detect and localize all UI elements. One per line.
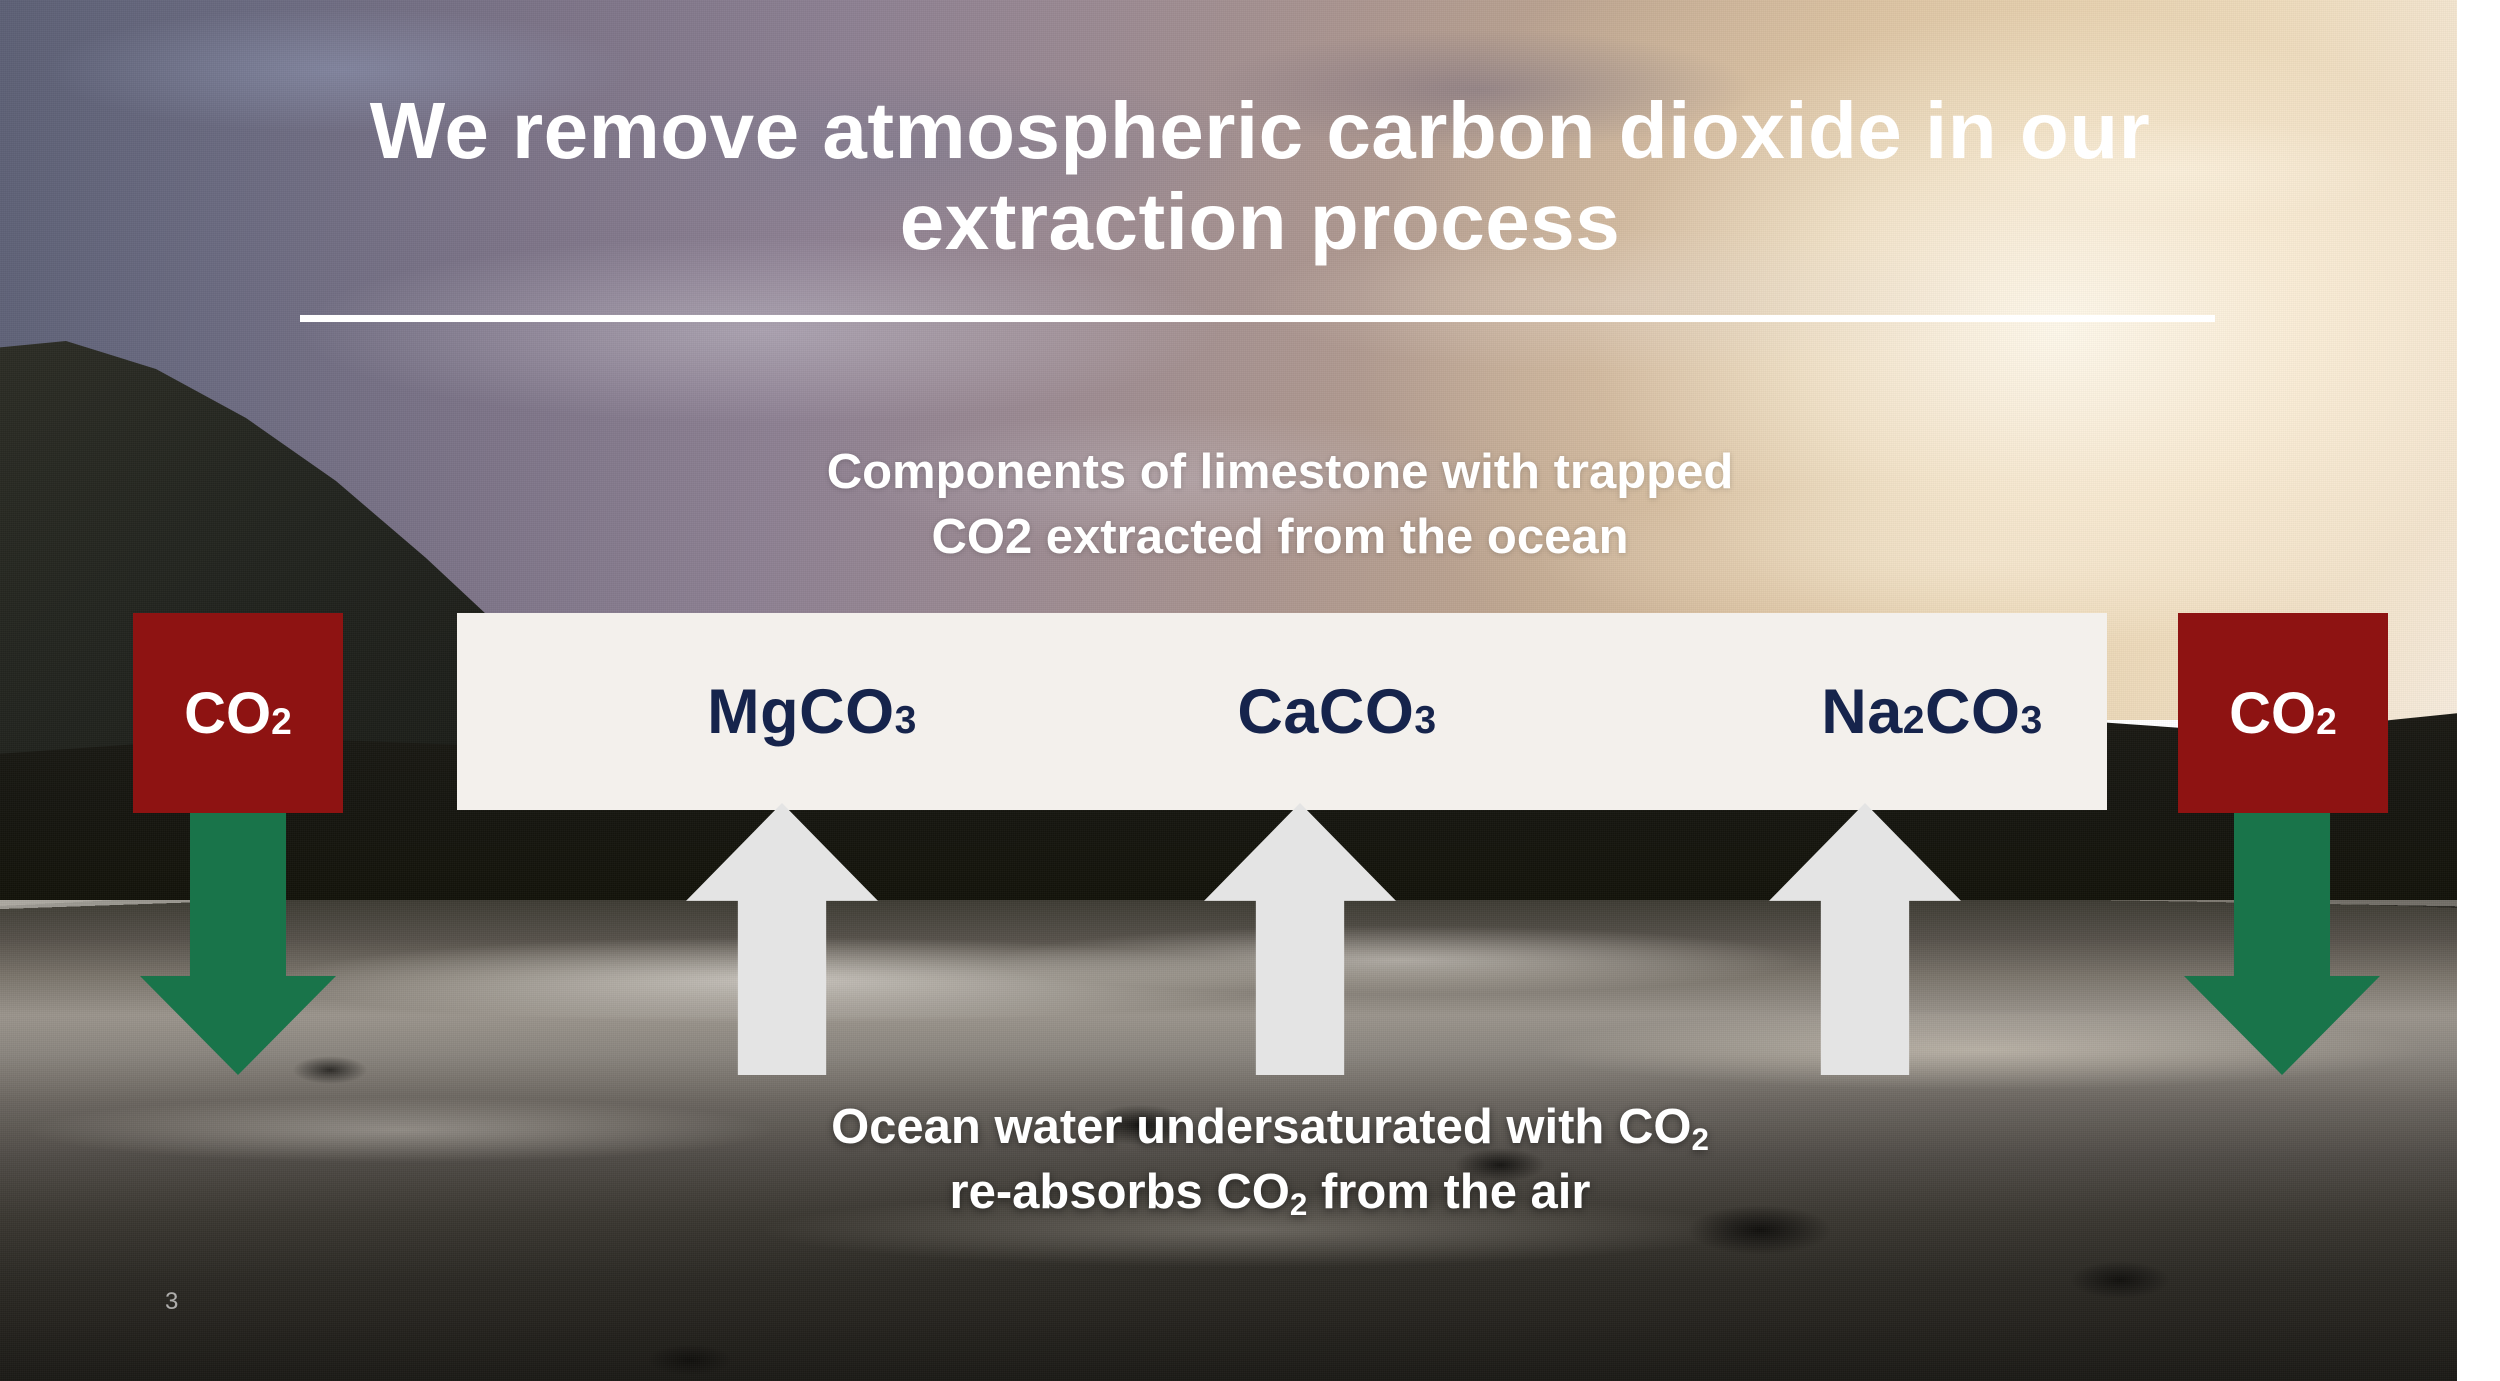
- caption-line-1-sub: 2: [1691, 1122, 1708, 1157]
- subtitle: Components of limestone with trapped CO2…: [630, 440, 1930, 569]
- co2-label: CO: [2229, 680, 2316, 747]
- formula-base: Na: [1821, 676, 1903, 748]
- co2-label: CO: [184, 680, 271, 747]
- ocean-caption: Ocean water undersaturated with CO2 re-a…: [620, 1095, 1920, 1225]
- caption-line-2-sub: 2: [1290, 1187, 1307, 1222]
- caption-line-2a: re-absorbs CO: [950, 1165, 1290, 1219]
- formula-tail: CO: [1925, 676, 2021, 748]
- co2-box-left: CO2: [133, 613, 343, 813]
- caption-line-1: Ocean water undersaturated with CO: [831, 1100, 1691, 1154]
- subtitle-line-2: CO2 extracted from the ocean: [931, 510, 1628, 564]
- subtitle-line-1: Components of limestone with trapped: [827, 445, 1734, 499]
- formula-sub: 3: [895, 699, 917, 743]
- formula-base: CaCO: [1237, 676, 1414, 748]
- formula-tail-sub: 3: [2021, 699, 2043, 743]
- co2-box-right: CO2: [2178, 613, 2388, 813]
- slide: We remove atmospheric carbon dioxide in …: [0, 0, 2500, 1381]
- co2-sub: 2: [2316, 700, 2337, 743]
- formula-base: MgCO: [707, 676, 894, 748]
- formula-sub: 3: [1414, 699, 1436, 743]
- page-title: We remove atmospheric carbon dioxide in …: [250, 85, 2270, 267]
- co2-sub: 2: [271, 700, 292, 743]
- formula-sub: 2: [1903, 699, 1925, 743]
- caption-line-2b: from the air: [1307, 1165, 1590, 1219]
- title-underline: [300, 315, 2215, 322]
- formula-mgco3: MgCO3: [612, 613, 1012, 810]
- slide-number: 3: [165, 1288, 178, 1316]
- limestone-components-panel: MgCO3 CaCO3 Na2CO3: [457, 613, 2107, 810]
